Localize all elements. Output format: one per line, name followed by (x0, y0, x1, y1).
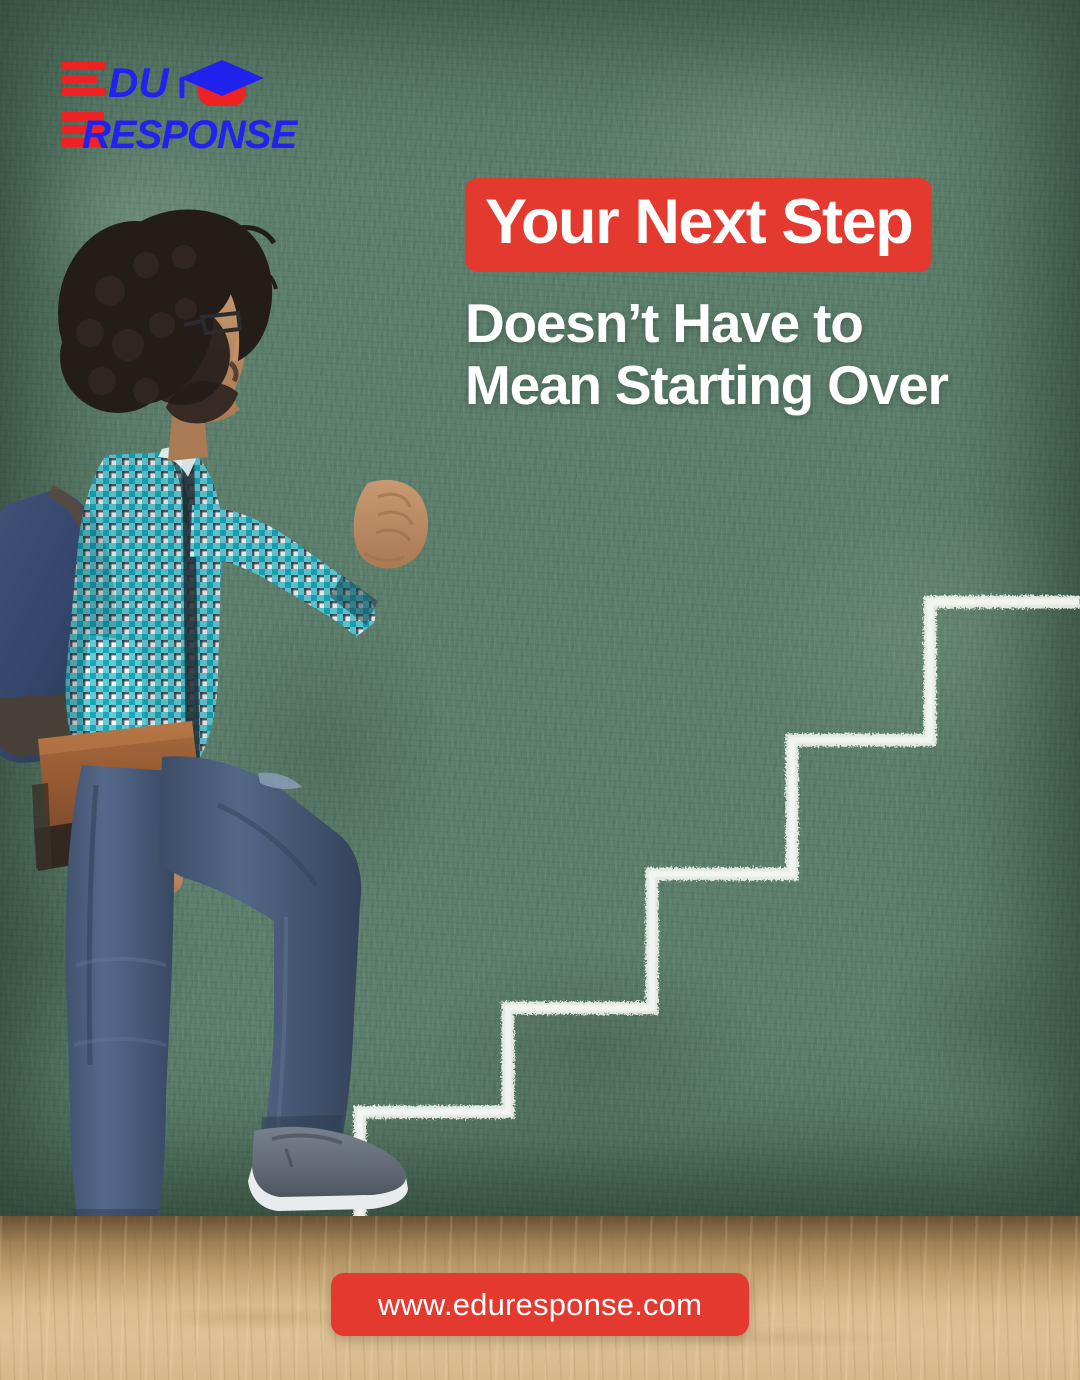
poster-canvas: DU RESPONSE Your Next Step Doesn’t Have … (0, 0, 1080, 1380)
chalk-step-path-highlight (360, 602, 1080, 1218)
student-figure (0, 205, 456, 1275)
edu-response-logo[interactable]: DU RESPONSE (58, 52, 298, 157)
raised-arm (190, 480, 428, 637)
headline-banner-text: Your Next Step (485, 192, 912, 254)
headline-sub-line-1: Doesn’t Have to (465, 292, 1045, 355)
headline-subtitle: Doesn’t Have to Mean Starting Over (465, 292, 1045, 417)
website-url-text: www.eduresponse.com (378, 1287, 702, 1323)
title-banner: Your Next Step (465, 178, 932, 272)
chalk-step-path (360, 602, 1080, 1218)
headline-sub-line-2: Mean Starting Over (465, 354, 1045, 417)
logo-word-response: RESPONSE (82, 113, 298, 157)
website-url-badge[interactable]: www.eduresponse.com (331, 1273, 749, 1336)
logo-word-edu: DU (108, 59, 170, 106)
graduation-cap-icon (180, 60, 264, 106)
head (58, 210, 276, 461)
headline-block: Your Next Step Doesn’t Have to Mean Star… (465, 178, 1045, 417)
logo-letter-e-bars (62, 62, 106, 96)
